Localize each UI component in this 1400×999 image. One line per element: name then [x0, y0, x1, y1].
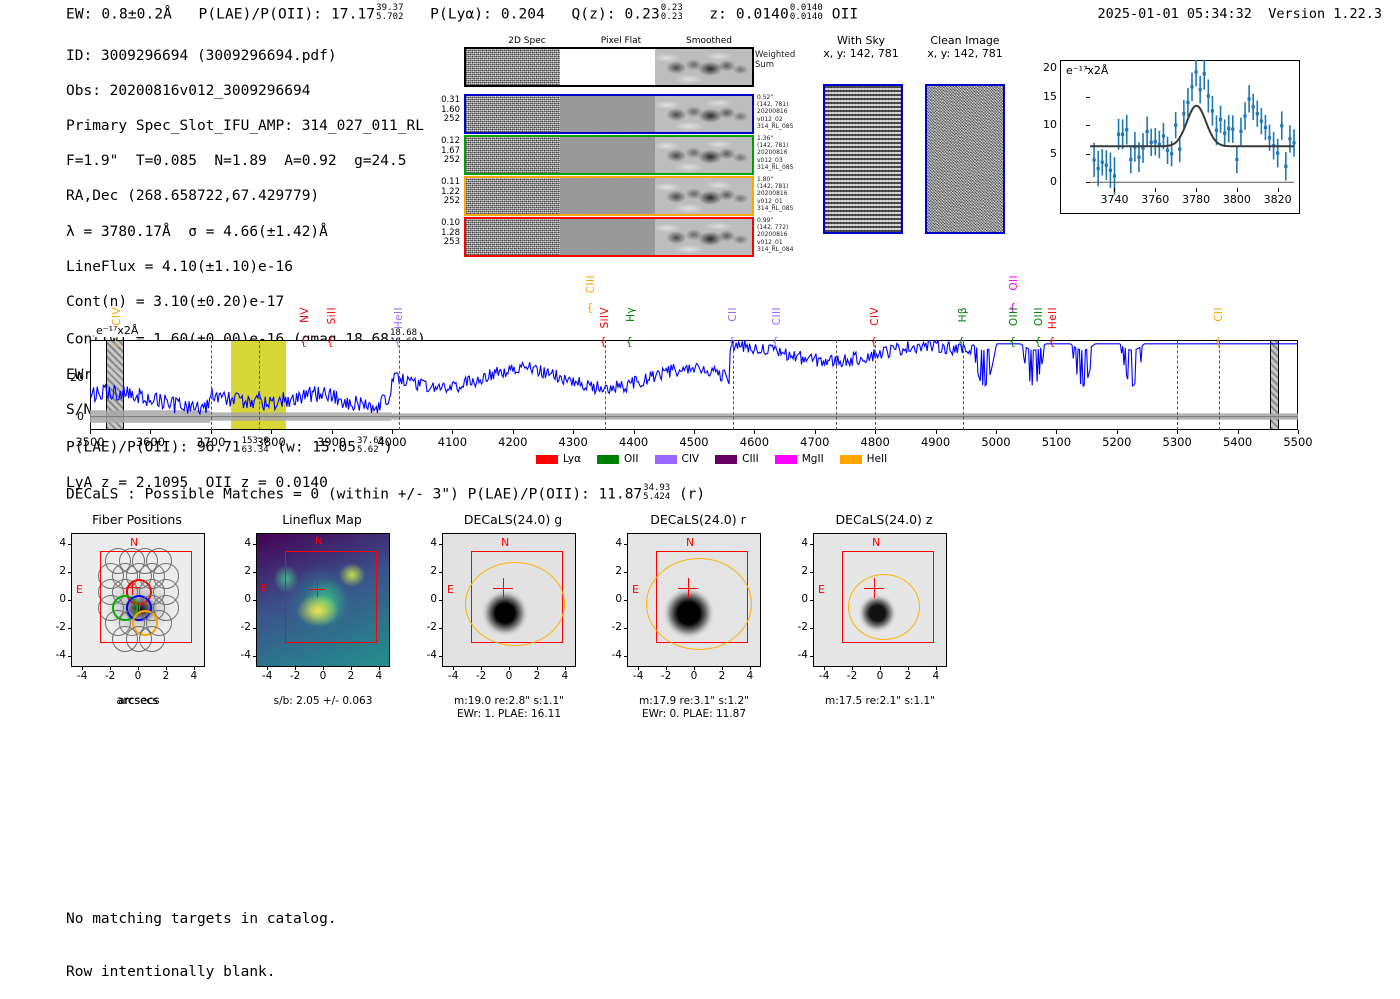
legend-swatch	[775, 455, 797, 464]
source-info-block: ID: 3009296694 (3009296694.pdf) Obs: 202…	[66, 30, 426, 510]
panel-x-tick: 2	[348, 670, 355, 682]
panel-y-tick: 0	[59, 593, 66, 605]
fit-y-tick: 20	[1043, 61, 1057, 74]
panel-y-tick: 2	[615, 565, 622, 577]
panel-x-tick: -4	[77, 670, 87, 682]
legend-swatch	[715, 455, 737, 464]
decals-z-image: N E	[813, 533, 947, 667]
panel-y-tick: -4	[241, 649, 251, 661]
spectrum-x-tickmark	[211, 430, 212, 434]
spectrum-x-tick: 5200	[1102, 435, 1131, 449]
weighted-sum-row	[464, 47, 754, 87]
spectrum-x-tick: 5500	[1283, 435, 1312, 449]
spectrum-line-label: SiIV	[599, 307, 611, 328]
spectrum-x-tick: 4100	[438, 435, 467, 449]
col-title-smoothed: Smoothed	[664, 36, 754, 46]
panel-caption-decals-g: m:19.0 re:2.8" s:1.1"EWr: 1. PLAE: 16.11	[432, 695, 586, 721]
spectrum-dashed-line	[211, 340, 212, 430]
spectrum-x-tickmark	[271, 430, 272, 434]
spectrum-x-tick: 5000	[981, 435, 1010, 449]
panel-x-tick: 0	[877, 670, 884, 682]
fiber-row	[464, 135, 754, 175]
spectrum-x-tickmark	[1238, 430, 1239, 434]
fiber-row-values: 0.311.60252	[424, 96, 460, 125]
spectrum-x-tickmark	[452, 430, 453, 434]
compass-e-label: E	[76, 583, 83, 596]
spectrum-line-label: CIV	[869, 307, 881, 326]
spectrum-line-label: SiII	[326, 307, 338, 324]
spectrum-dashed-line	[875, 340, 876, 430]
panel-y-tickmark	[439, 544, 442, 545]
fit-plot-svg	[1060, 60, 1300, 214]
spectrum-x-tick: 4400	[619, 435, 648, 449]
decals-z-n-label: N	[872, 536, 880, 549]
fiber-row	[464, 217, 754, 257]
panel-x-tickmark	[694, 667, 695, 670]
spectrum-line-label: Hγ	[625, 307, 637, 322]
fit-x-tickmark	[1114, 188, 1115, 192]
plya-value: 0.204	[501, 7, 545, 23]
spectrum-target-line	[259, 340, 260, 430]
fit-y-tickmark	[1086, 97, 1090, 98]
spectrum-x-tick: 3900	[317, 435, 346, 449]
fit-x-tick: 3820	[1264, 193, 1292, 206]
legend-item-civ: CIV	[655, 453, 700, 465]
decals-plae-range: 34.935.424	[643, 484, 670, 502]
panel-title-decals-z: DECaLS(24.0) z	[804, 512, 964, 527]
compass-n-label: N	[130, 536, 138, 549]
spectrum-x-tick: 4600	[740, 435, 769, 449]
spectrum-x-tickmark	[694, 430, 695, 434]
qz-value: 0.23	[624, 7, 659, 23]
panel-y-tickmark	[439, 656, 442, 657]
panel-y-tickmark	[624, 572, 627, 573]
panel-y-tick: 2	[430, 565, 437, 577]
spectrum-line-markers: CIV{NV{SiII{HeII{CIII{SiIV{Hγ{CII{CIII{C…	[90, 275, 1298, 341]
spectrum-line-label: CII	[727, 307, 739, 322]
panel-y-tickmark	[810, 656, 813, 657]
spectrum-dashed-line	[605, 340, 606, 430]
spectrum-dashed-line	[836, 340, 837, 430]
spectrum-line-brace: {	[112, 335, 119, 348]
spectrum-line-label: OIII	[1008, 307, 1020, 326]
spectrum-x-tickmark	[996, 430, 997, 434]
spectrum-x-tickmark	[936, 430, 937, 434]
panel-y-tick: -2	[612, 621, 622, 633]
qz-range: 0.230.23	[661, 4, 683, 22]
panel-y-tickmark	[810, 544, 813, 545]
footer-line-2: Row intentionally blank.	[66, 964, 337, 982]
spectrum-x-tick: 3800	[257, 435, 286, 449]
panel-y-tick: -2	[56, 621, 66, 633]
fit-x-tick: 3800	[1223, 193, 1251, 206]
spectrum-x-tick: 5300	[1163, 435, 1192, 449]
spectrum-x-tickmark	[150, 430, 151, 434]
panel-y-tickmark	[439, 600, 442, 601]
panel-y-tick: -4	[798, 649, 808, 661]
lineflux-crosshair-h	[309, 589, 325, 590]
panel-y-tick: 0	[615, 593, 622, 605]
fiber-row-values: 0.121.67252	[424, 137, 460, 166]
panel-x-tick: 4	[561, 670, 568, 682]
timestamp: 2025-01-01 05:34:32	[1098, 6, 1252, 22]
legend-label: OII	[624, 453, 638, 465]
decals-z-e-label: E	[818, 583, 825, 596]
spectrum-dashed-line	[1219, 340, 1220, 430]
col-title-pixelflat: Pixel Flat	[576, 36, 666, 46]
panel-y-tickmark	[253, 544, 256, 545]
fiber-positions-image: N E	[71, 533, 205, 667]
panel-x-tickmark	[138, 667, 139, 670]
fit-y-tickmark	[1086, 68, 1090, 69]
panel-y-tickmark	[624, 628, 627, 629]
fiber-row-values: 0.111.22252	[424, 178, 460, 207]
footer-note: No matching targets in catalog. Row inte…	[66, 876, 337, 999]
panel-x-tick: -4	[819, 670, 829, 682]
panel-x-tickmark	[852, 667, 853, 670]
info-primary-spec: Primary Spec_Slot_IFU_AMP: 314_027_011_R…	[66, 118, 426, 136]
spectrum-x-tick: 4700	[800, 435, 829, 449]
fiber-red-box	[100, 551, 192, 643]
panel-x-tick: -2	[476, 670, 486, 682]
panel-x-tickmark	[824, 667, 825, 670]
panel-y-tick: 4	[615, 537, 622, 549]
spectrum-line-brace: {	[1214, 335, 1221, 348]
panel-x-tickmark	[267, 667, 268, 670]
fit-x-tick: 3740	[1100, 193, 1128, 206]
spectrum-dashed-line	[1177, 340, 1178, 430]
footer-line-1: No matching targets in catalog.	[66, 911, 337, 929]
legend-label: CIV	[682, 453, 700, 465]
fit-y-tickmark	[1086, 182, 1090, 183]
plae-range: 39.375.702	[376, 4, 404, 22]
info-plae: P(LAE)/P(OII): 96.71153.663.34 (w: 15.05…	[66, 437, 426, 457]
spectrum-x-tickmark	[1117, 430, 1118, 434]
cutout-title-clean-image: Clean Imagex, y: 142, 781	[917, 34, 1013, 60]
panel-x-tickmark	[166, 667, 167, 670]
lineflux-red-box	[285, 551, 377, 643]
decals-r-image: N E	[627, 533, 761, 667]
legend-item-heii: HeII	[840, 453, 888, 465]
spectrum-legend: LyαOIICIVCIIIMgIIHeII	[536, 453, 887, 465]
spectrum-line-brace: {	[600, 335, 607, 348]
plae-value: 17.17	[331, 7, 375, 23]
spectrum-x-tickmark	[1177, 430, 1178, 434]
spectrum-x-tickmark	[875, 430, 876, 434]
fiber-row	[464, 176, 754, 216]
panel-y-tickmark	[810, 628, 813, 629]
panel-y-tick: -4	[427, 649, 437, 661]
spectrum-x-tick: 5400	[1223, 435, 1252, 449]
legend-swatch	[597, 455, 619, 464]
spectrum-x-tick: 4300	[559, 435, 588, 449]
fit-x-tickmark	[1278, 188, 1279, 192]
fiber-row-values: 0.101.28253	[424, 219, 460, 248]
ew-label: EW:	[66, 7, 93, 23]
decals-g-n-label: N	[501, 536, 509, 549]
lineflux-map-image: N E	[256, 533, 390, 667]
decals-g-ellipse	[465, 562, 565, 646]
panel-x-tick: -4	[633, 670, 643, 682]
panel-x-tick: 0	[691, 670, 698, 682]
fit-y-tickmark	[1086, 154, 1090, 155]
fit-x-tickmark	[1155, 188, 1156, 192]
panel-x-tickmark	[110, 667, 111, 670]
legend-label: Lyα	[563, 453, 581, 465]
panel-x-tick: 2	[905, 670, 912, 682]
legend-swatch	[655, 455, 677, 464]
info-id: ID: 3009296694 (3009296694.pdf)	[66, 48, 426, 66]
fit-x-tick: 3780	[1182, 193, 1210, 206]
panel-y-tickmark	[68, 544, 71, 545]
panel-y-tickmark	[253, 600, 256, 601]
panel-x-tickmark	[666, 667, 667, 670]
ew-value: 0.8±0.2Å	[101, 7, 172, 23]
spectrum-line-brace: {	[394, 335, 401, 348]
fiber-row-meta: 0.52"(142, 781) 20200816v012_02 314_RL_0…	[757, 94, 793, 130]
spectrum-y-tick: 0	[77, 410, 84, 423]
lineflux-n-label: N	[315, 536, 322, 547]
spectrum-x-tickmark	[332, 430, 333, 434]
panel-y-tick: -2	[427, 621, 437, 633]
full-spectrum-chart: e⁻¹⁷x2Å 020 3500360037003800390040004100…	[90, 340, 1298, 430]
info-lineflux: LineFlux = 4.10(±1.10)e-16	[66, 259, 426, 277]
line-fit-chart: e⁻¹⁷x2Å 05101520 37403760378038003820	[1060, 60, 1300, 214]
panel-y-tick: 0	[244, 593, 251, 605]
panel-x-tick: -4	[262, 670, 272, 682]
panel-x-tick: -4	[448, 670, 458, 682]
panel-y-tick: 4	[430, 537, 437, 549]
panel-y-tickmark	[624, 544, 627, 545]
fiber-crosshair-h	[126, 587, 140, 588]
panel-y-tickmark	[624, 656, 627, 657]
fiber-row	[464, 94, 754, 134]
panel-y-tickmark	[810, 572, 813, 573]
panel-x-tick: -2	[105, 670, 115, 682]
spectrum-x-tickmark	[513, 430, 514, 434]
decals-z-ellipse	[848, 574, 920, 640]
info-obs: Obs: 20200816v012_3009296694	[66, 83, 426, 101]
panel-x-tick: 0	[135, 670, 142, 682]
spectrum-x-tick: 4800	[861, 435, 890, 449]
cutout-title-with-sky: With Skyx, y: 142, 781	[818, 34, 904, 60]
spectrum-line-brace: {	[586, 301, 593, 314]
panel-y-tickmark	[624, 600, 627, 601]
decals-r-crosshair-h	[678, 588, 698, 589]
decals-r-n-label: N	[686, 536, 694, 549]
z-value: 0.0140	[736, 7, 789, 23]
spectrum-line-brace: {	[626, 335, 633, 348]
decals-g-image: N E	[442, 533, 576, 667]
spectrum-line-label: HeII	[393, 307, 405, 329]
panel-x-tickmark	[537, 667, 538, 670]
spectrum-line-brace: {	[870, 335, 877, 348]
decals-z-crosshair-h	[864, 588, 884, 589]
spectrum-x-tick: 4200	[498, 435, 527, 449]
cutout-image-with-sky	[823, 84, 903, 234]
spectrum-line-brace: {	[1034, 335, 1041, 348]
spectrum-line-label: HeII	[1047, 307, 1059, 329]
panel-y-tick: 4	[244, 537, 251, 549]
panel-y-tickmark	[68, 600, 71, 601]
panel-title-fiber-positions: Fiber Positions	[62, 512, 212, 527]
cutout-image-clean	[925, 84, 1005, 234]
spectrum-line-brace: {	[1009, 335, 1016, 348]
spectrum-x-tick: 4000	[377, 435, 406, 449]
panel-x-tickmark	[565, 667, 566, 670]
panel-x-tick: 4	[190, 670, 197, 682]
panel-y-tick: -2	[241, 621, 251, 633]
panel-y-tick: 4	[59, 537, 66, 549]
spectrum-x-tickmark	[573, 430, 574, 434]
info-wavelength: λ = 3780.17Å σ = 4.66(±1.42)Å	[66, 224, 426, 242]
panel-x-tick: 4	[932, 670, 939, 682]
spectrum-x-tickmark	[815, 430, 816, 434]
panel-y-tickmark	[439, 628, 442, 629]
decals-r-e-label: E	[632, 583, 639, 596]
weighted-sum-label: WeightedSum	[755, 50, 795, 70]
panel-title-lineflux-map: Lineflux Map	[247, 512, 397, 527]
z-range: 0.01400.0140	[790, 4, 823, 22]
info-seeing: F=1.9" T=0.085 N=1.89 A=0.92 g=24.5	[66, 153, 426, 171]
panel-x-tickmark	[880, 667, 881, 670]
fiber-crosshair-v	[132, 581, 133, 595]
fit-y-tick: 0	[1050, 175, 1057, 188]
panel-x-tickmark	[509, 667, 510, 670]
panel-x-tick: 4	[375, 670, 382, 682]
panel-x-tickmark	[481, 667, 482, 670]
z-species: OII	[832, 7, 859, 23]
panel-title-decals-r: DECaLS(24.0) r	[618, 512, 778, 527]
spectrum-line-label: CIII	[585, 275, 597, 293]
panel-y-tick: -4	[612, 649, 622, 661]
plya-label: P(Lyα):	[430, 7, 492, 23]
spectrum-y-tick: 20	[70, 371, 84, 384]
panel-y-tickmark	[68, 656, 71, 657]
spectrum-line-brace: {	[327, 335, 334, 348]
fit-y-tickmark	[1086, 125, 1090, 126]
spectrum-x-tickmark	[90, 430, 91, 434]
spectrum-x-tickmark	[1056, 430, 1057, 434]
panel-x-tickmark	[936, 667, 937, 670]
spectrum-line-label: OII	[1008, 275, 1020, 291]
panel-y-tick: 2	[59, 565, 66, 577]
panel-y-tickmark	[253, 656, 256, 657]
spectrum-x-tickmark	[1298, 430, 1299, 434]
panel-x-tick: -2	[847, 670, 857, 682]
legend-item-mgii: MgII	[775, 453, 824, 465]
spectrum-x-tickmark	[754, 430, 755, 434]
fit-y-tick: 5	[1050, 147, 1057, 160]
panel-x-tick: -2	[290, 670, 300, 682]
spectrum-line-label: CIV	[111, 307, 123, 326]
panel-y-tickmark	[253, 628, 256, 629]
panel-x-tick: 0	[506, 670, 513, 682]
spectrum-dashed-line	[963, 340, 964, 430]
spectrum-line-label: CIII	[771, 307, 783, 325]
spectrum-x-tick: 3600	[136, 435, 165, 449]
spectrum-line-label: OIII	[1033, 307, 1045, 326]
legend-label: MgII	[802, 453, 824, 465]
panel-y-tickmark	[253, 572, 256, 573]
panel-caption-decals-r: m:17.9 re:3.1" s:1.2"EWr: 0. PLAE: 11.87	[617, 695, 771, 721]
fit-y-tick: 10	[1043, 118, 1057, 131]
spectrum-line-label: NV	[299, 307, 311, 323]
legend-label: CIII	[742, 453, 759, 465]
panel-y-tick: 0	[801, 593, 808, 605]
decals-header: DECaLS : Possible Matches = 0 (within +/…	[66, 484, 705, 503]
spectrum-x-tickmark	[392, 430, 393, 434]
twod-spectrum-panel: 2D Spec Pixel Flat Smoothed WeightedSum …	[424, 36, 754, 248]
panel-title-decals-g: DECaLS(24.0) g	[433, 512, 593, 527]
spectrum-x-tick: 3500	[75, 435, 104, 449]
spectrum-x-tick: 3700	[196, 435, 225, 449]
panel-x-tick: -2	[661, 670, 671, 682]
spectrum-x-tick: 4900	[921, 435, 950, 449]
fit-y-tick: 15	[1043, 90, 1057, 103]
fiber-row-meta: 1.36"(142, 781) 20200816v012_03 314_RL_0…	[757, 135, 793, 171]
panel-y-tick: -2	[798, 621, 808, 633]
panel-y-tick: 2	[244, 565, 251, 577]
panel-xlabel: arcsecs	[61, 694, 215, 707]
panel-y-tickmark	[810, 600, 813, 601]
spectrum-x-tick: 5100	[1042, 435, 1071, 449]
fit-x-tickmark	[1237, 188, 1238, 192]
spectrum-dashed-line	[399, 340, 400, 430]
spectrum-line-label: CII	[1213, 307, 1225, 322]
decals-r-ellipse	[646, 558, 752, 650]
panel-x-tickmark	[638, 667, 639, 670]
panel-x-tickmark	[908, 667, 909, 670]
spectrum-dashed-line	[733, 340, 734, 430]
summary-header: EW: 0.8±0.2Å P(LAE)/P(OII): 17.1739.375.…	[66, 4, 858, 23]
fit-x-tick: 3760	[1141, 193, 1169, 206]
spectrum-svg	[90, 340, 1298, 430]
legend-label: HeII	[867, 453, 888, 465]
fit-x-tickmark	[1196, 188, 1197, 192]
fiber-row-meta: 1.80"(142, 781) 20200816v012_01 314_RL_0…	[757, 176, 793, 212]
spectrum-line-brace: {	[728, 335, 735, 348]
panel-y-tick: -4	[56, 649, 66, 661]
legend-item-ciii: CIII	[715, 453, 759, 465]
panel-x-tickmark	[323, 667, 324, 670]
z-label: z:	[709, 7, 727, 23]
panel-x-tickmark	[295, 667, 296, 670]
legend-item-lyα: Lyα	[536, 453, 581, 465]
legend-swatch	[536, 455, 558, 464]
spectrum-line-brace: {	[958, 335, 965, 348]
spectrum-x-tickmark	[634, 430, 635, 434]
decals-g-e-label: E	[447, 583, 454, 596]
panel-x-tick: 0	[320, 670, 327, 682]
fiber-row-meta: 0.99"(142, 772) 20200816v012_01 314_RL_0…	[757, 217, 793, 253]
spectrum-line-brace: {	[1048, 335, 1055, 348]
panel-x-tick: 2	[719, 670, 726, 682]
panel-y-tick: 4	[801, 537, 808, 549]
panel-y-tickmark	[439, 572, 442, 573]
panel-x-tick: 2	[534, 670, 541, 682]
panel-y-tickmark	[68, 572, 71, 573]
panel-y-tick: 0	[430, 593, 437, 605]
panel-x-tickmark	[722, 667, 723, 670]
panel-x-tickmark	[82, 667, 83, 670]
panel-y-tickmark	[68, 628, 71, 629]
version-label: Version 1.22.3	[1268, 6, 1382, 22]
plae-label: P(LAE)/P(OII):	[198, 7, 322, 23]
qz-label: Q(z):	[571, 7, 615, 23]
col-title-2dspec: 2D Spec	[482, 36, 572, 46]
panel-y-tick: 2	[801, 565, 808, 577]
